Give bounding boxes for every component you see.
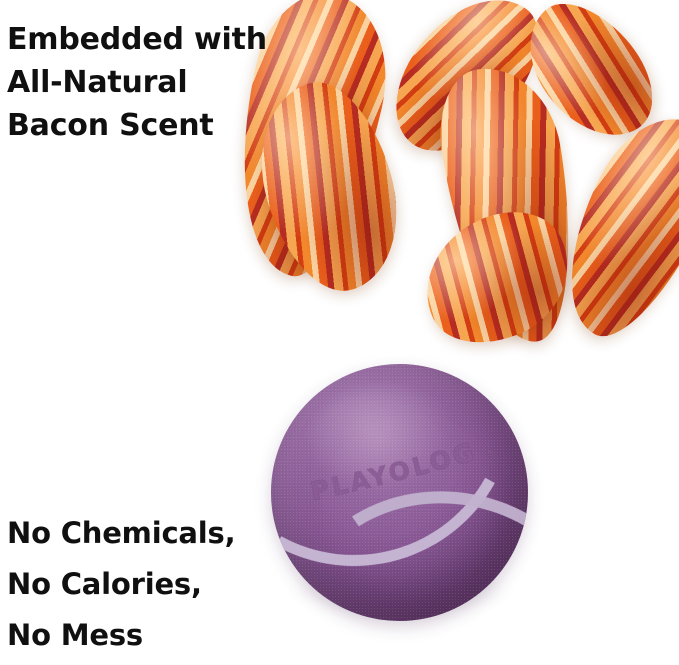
headline-line-3: Bacon Scent — [7, 104, 297, 147]
benefit-line-3: No Mess — [7, 610, 307, 661]
product-ball: PLAYOLOGY ® — [271, 364, 528, 621]
benefit-line-1: No Chemicals, — [7, 508, 307, 559]
headline-line-1: Embedded with — [7, 18, 297, 61]
benefit-line-2: No Calories, — [7, 559, 307, 610]
headline-line-2: All-Natural — [7, 61, 297, 104]
benefits-text: No Chemicals, No Calories, No Mess — [7, 508, 307, 661]
ball-gloss-highlight — [312, 387, 456, 490]
product-feature-image: Embedded with All-Natural Bacon Scent PL… — [0, 0, 679, 665]
bacon-photo-group — [236, 0, 679, 376]
headline-text: Embedded with All-Natural Bacon Scent — [7, 18, 297, 147]
ball-body: PLAYOLOGY ® — [271, 364, 528, 621]
